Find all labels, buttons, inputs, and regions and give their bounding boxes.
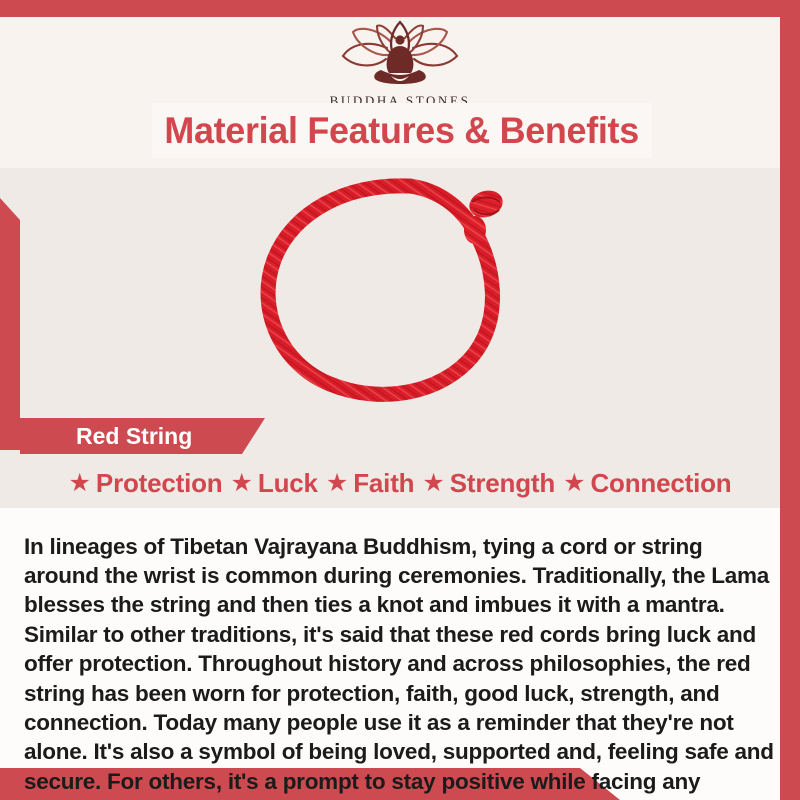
star-icon: ★ bbox=[69, 471, 91, 496]
star-icon: ★ bbox=[563, 471, 585, 496]
benefit-label: Strength bbox=[450, 468, 555, 499]
decorative-bar-right bbox=[780, 0, 800, 800]
benefit-label: Protection bbox=[96, 468, 223, 499]
star-icon: ★ bbox=[326, 471, 348, 496]
lotus-meditation-icon bbox=[0, 18, 800, 90]
benefit-label: Connection bbox=[590, 468, 731, 499]
benefit-item-connection: ★ Connection bbox=[563, 468, 731, 499]
benefit-item-faith: ★ Faith bbox=[326, 468, 415, 499]
title-banner: Material Features & Benefits bbox=[152, 103, 652, 158]
description-text: In lineages of Tibetan Vajrayana Buddhis… bbox=[24, 532, 776, 800]
product-name-label: Red String bbox=[76, 423, 192, 450]
benefit-label: Luck bbox=[258, 468, 318, 499]
product-image-area bbox=[20, 168, 780, 418]
benefit-item-protection: ★ Protection bbox=[69, 468, 223, 499]
benefit-item-strength: ★ Strength bbox=[422, 468, 555, 499]
page-title: Material Features & Benefits bbox=[165, 110, 640, 152]
product-name-ribbon: Red String bbox=[20, 418, 265, 454]
decorative-bar-top bbox=[0, 0, 800, 17]
benefit-item-luck: ★ Luck bbox=[231, 468, 318, 499]
product-info-poster: BUDDHA STONES Material Features & Benefi… bbox=[0, 0, 800, 800]
benefit-label: Faith bbox=[353, 468, 414, 499]
decorative-bar-left bbox=[0, 198, 20, 450]
star-icon: ★ bbox=[231, 471, 253, 496]
star-icon: ★ bbox=[422, 471, 444, 496]
brand-logo: BUDDHA STONES bbox=[0, 18, 800, 109]
benefits-list: ★ Protection ★ Luck ★ Faith ★ Strength ★… bbox=[20, 463, 780, 503]
